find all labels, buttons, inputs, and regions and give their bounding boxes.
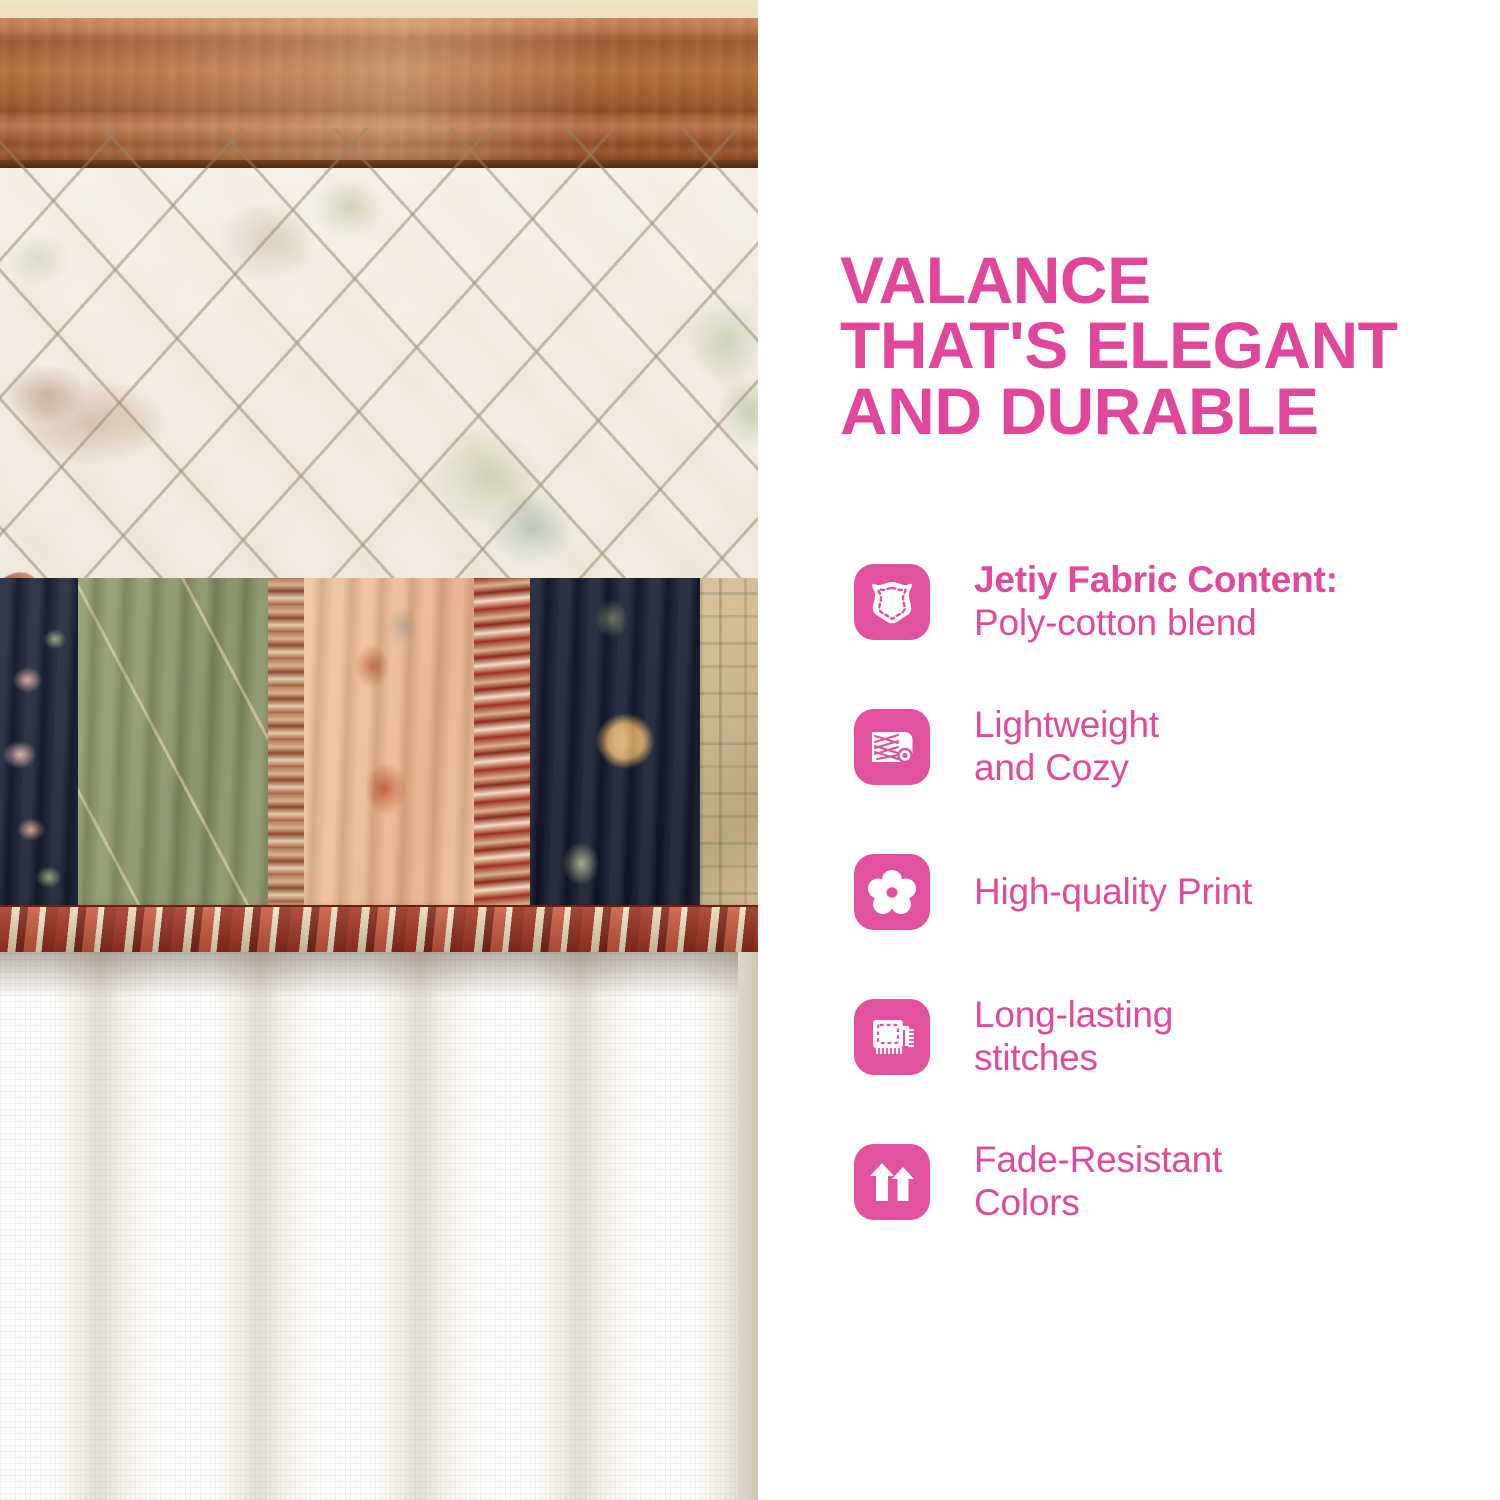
feature-label-line: stitches	[974, 1037, 1173, 1080]
feature-item-stitches: Long-lasting stitches	[854, 993, 1494, 1081]
feature-item-fade-resistant: Fade-Resistant Colors	[854, 1138, 1494, 1226]
feature-label-line: Lightweight	[974, 704, 1159, 747]
leather-hide-icon	[854, 564, 930, 640]
feature-label-line: Long-lasting	[974, 994, 1173, 1037]
feature-label-line: Fade-Resistant	[974, 1139, 1222, 1182]
feature-label-line: and Cozy	[974, 747, 1159, 790]
stripe-texture	[530, 578, 700, 918]
flower-icon	[854, 854, 930, 930]
patchwork-stripe-band	[0, 578, 758, 918]
feature-text-print: High-quality Print	[974, 871, 1252, 914]
fabric-roll-icon	[854, 709, 930, 785]
feature-item-lightweight: Lightweight and Cozy	[854, 703, 1494, 791]
feature-label-line: Colors	[974, 1182, 1222, 1225]
headline-line-3: AND DURABLE	[840, 379, 1460, 444]
info-panel: VALANCE THAT'S ELEGANT AND DURABLE Jetiy…	[758, 0, 1500, 1500]
wall-edge	[738, 952, 758, 1500]
feature-list: Jetiy Fabric Content: Poly-cotton blend	[854, 558, 1494, 1226]
double-up-arrow-icon	[854, 1144, 930, 1220]
feature-label-line: Poly-cotton blend	[974, 602, 1338, 645]
diamond-quilt-stitching	[0, 128, 758, 618]
feature-item-print: High-quality Print	[854, 848, 1494, 936]
rust-binding-trim	[0, 905, 758, 957]
white-sheer-curtain	[0, 952, 758, 1500]
stripe-texture	[78, 578, 268, 918]
stripe-texture	[0, 578, 78, 918]
headline-line-2: THAT'S ELEGANT	[840, 313, 1460, 378]
feature-text-fade-resistant: Fade-Resistant Colors	[974, 1139, 1222, 1225]
curtain-top-shadow	[0, 952, 758, 998]
feature-text-stitches: Long-lasting stitches	[974, 994, 1173, 1080]
stripe-navy-floral	[0, 578, 78, 918]
stripe-sage-green	[78, 578, 268, 918]
binding-shading	[0, 907, 758, 957]
quilted-cream-panel	[0, 168, 758, 578]
stripe-texture	[304, 578, 474, 918]
headline-line-1: VALANCE	[840, 248, 1460, 313]
stripe-floral-border	[268, 578, 304, 918]
curtain-weave-texture	[0, 952, 758, 1500]
stacked-fabric-squares-icon	[854, 999, 930, 1075]
product-photo	[0, 0, 758, 1500]
stripe-navy-gold-flower	[530, 578, 700, 918]
feature-text-lightweight: Lightweight and Cozy	[974, 704, 1159, 790]
feature-item-fabric-content: Jetiy Fabric Content: Poly-cotton blend	[854, 558, 1494, 646]
wall-strip	[0, 0, 758, 20]
feature-label-line: High-quality Print	[974, 871, 1252, 914]
stripe-peach	[304, 578, 474, 918]
stripe-rust-floral-border	[474, 578, 530, 918]
feature-label-strong: Jetiy Fabric Content:	[974, 559, 1338, 602]
stripe-tan-plaid	[700, 578, 758, 918]
page-title: VALANCE THAT'S ELEGANT AND DURABLE	[840, 248, 1460, 444]
infographic-canvas: VALANCE THAT'S ELEGANT AND DURABLE Jetiy…	[0, 0, 1500, 1500]
feature-text-fabric-content: Jetiy Fabric Content: Poly-cotton blend	[974, 559, 1338, 645]
